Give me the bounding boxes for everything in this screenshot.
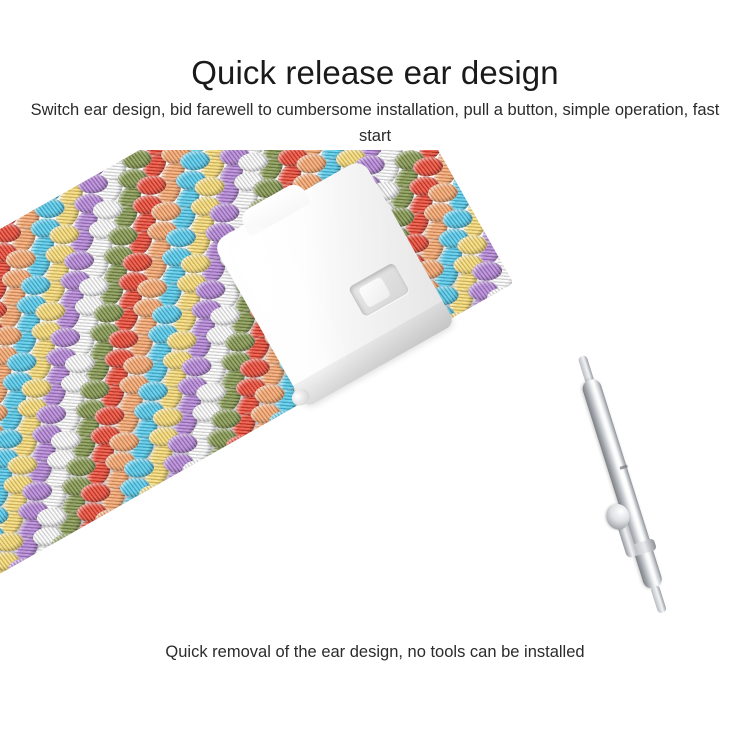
photo-caption: Quick removal of the ear design, no tool… [0,643,750,662]
weave-knot [496,229,513,251]
page-subtitle: Switch ear design, bid farewell to cumbe… [28,97,722,149]
quick-release-spring-bar [500,375,750,595]
product-feature-image: Quick release ear design Switch ear desi… [0,0,750,750]
weave-knot [467,177,499,199]
weave-knot [481,203,513,225]
product-photo [0,150,750,620]
weave-knot [452,151,484,173]
weave-knot [511,255,514,277]
page-title: Quick release ear design [0,55,750,91]
spring-bar-group [480,336,750,620]
spring-bar-tip-right [650,585,667,614]
